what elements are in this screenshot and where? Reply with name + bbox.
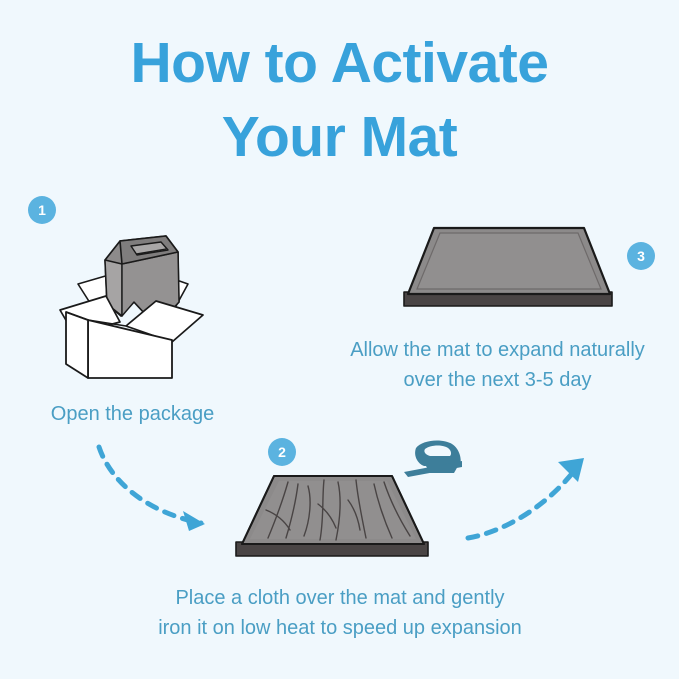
page-title-line-2: Your Mat — [0, 100, 679, 174]
infographic-canvas: How to Activate Your Mat 1 2 3 — [0, 0, 679, 679]
dashed-arrow-up-right-icon — [466, 448, 596, 543]
flat-mat-icon — [398, 222, 618, 317]
step-3-badge: 3 — [627, 242, 655, 270]
package-box-icon — [48, 222, 218, 382]
step-3-caption-line-1: Allow the mat to expand naturally — [325, 335, 670, 365]
page-title-line-1: How to Activate — [0, 26, 679, 100]
dashed-arrow-down-right-icon — [95, 443, 220, 533]
step-2-caption-line-1: Place a cloth over the mat and gently — [100, 583, 580, 613]
step-1-caption: Open the package — [0, 399, 265, 429]
step-3-caption-line-2: over the next 3-5 day — [325, 365, 670, 395]
step-2-badge: 2 — [268, 438, 296, 466]
step-3-caption: Allow the mat to expand naturally over t… — [325, 335, 670, 395]
step-2-caption: Place a cloth over the mat and gently ir… — [100, 583, 580, 643]
step-1-caption-line-1: Open the package — [0, 399, 265, 429]
page-title: How to Activate Your Mat — [0, 26, 679, 174]
iron-icon — [398, 436, 468, 488]
step-2-caption-line-2: iron it on low heat to speed up expansio… — [100, 613, 580, 643]
step-1-badge: 1 — [28, 196, 56, 224]
